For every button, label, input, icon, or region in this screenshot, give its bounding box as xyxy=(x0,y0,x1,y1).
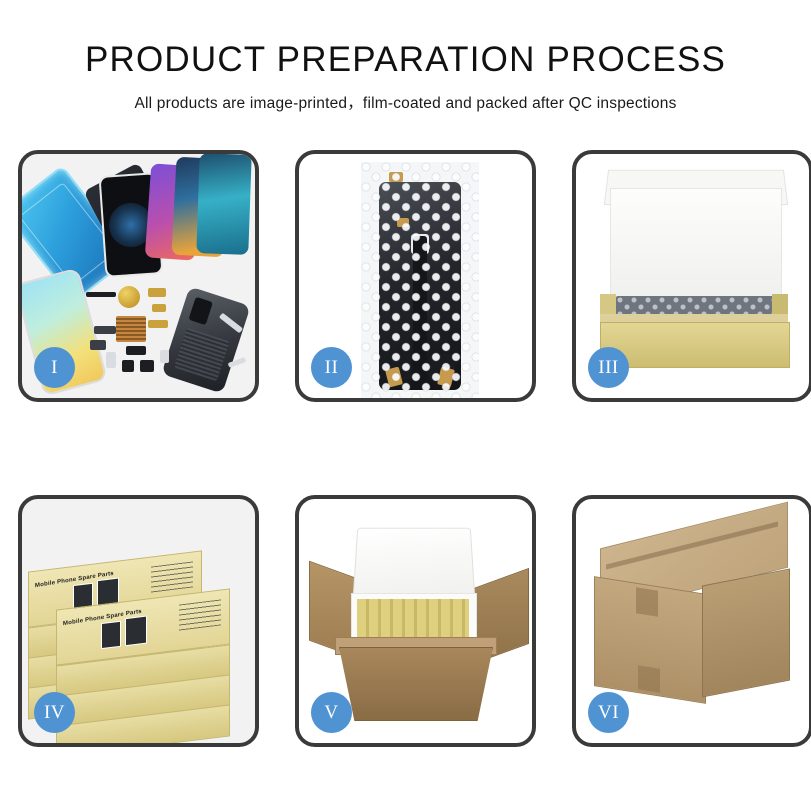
carton-tape-icon xyxy=(636,587,658,616)
small-part-icon xyxy=(160,350,169,363)
process-step-3: III xyxy=(572,150,811,402)
box-thumbnail-icon xyxy=(125,616,147,647)
teal-phone-icon xyxy=(196,154,251,255)
step-badge-4: IV xyxy=(34,692,75,733)
chip-grid-icon xyxy=(116,316,146,342)
small-part-icon xyxy=(148,320,168,328)
box-front-panel xyxy=(600,322,790,368)
step-badge-1: I xyxy=(34,347,75,388)
small-part-icon xyxy=(94,326,116,334)
page-title: PRODUCT PREPARATION PROCESS xyxy=(0,42,811,79)
box-spec-lines xyxy=(151,561,193,592)
small-part-icon xyxy=(140,360,154,372)
small-part-icon xyxy=(106,352,116,368)
disassembled-phone-icon xyxy=(161,286,250,393)
small-part-icon xyxy=(148,288,166,297)
step-badge-6: VI xyxy=(588,692,629,733)
small-part-icon xyxy=(90,340,106,350)
process-step-6: VI xyxy=(572,495,811,747)
small-part-icon xyxy=(126,346,146,355)
bubble-wrap-texture xyxy=(361,162,479,398)
box-thumbnail-icon xyxy=(101,621,121,649)
step-badge-3: III xyxy=(588,347,629,388)
carton-front-panel xyxy=(339,647,493,721)
product-preparation-infographic: PRODUCT PREPARATION PROCESS All products… xyxy=(0,0,811,811)
foam-case-lid-icon xyxy=(353,528,476,599)
step-badge-5: V xyxy=(311,692,352,733)
small-part-icon xyxy=(152,304,166,312)
step-badge-2: II xyxy=(311,347,352,388)
box-spec-lines xyxy=(179,599,221,630)
process-step-5: V xyxy=(295,495,536,747)
foam-sheet-icon xyxy=(610,188,782,298)
bubble-wrap-sleeve xyxy=(361,162,479,398)
small-part-icon xyxy=(86,292,116,297)
process-step-1: I xyxy=(18,150,259,402)
speaker-module-icon xyxy=(118,286,140,308)
header: PRODUCT PREPARATION PROCESS All products… xyxy=(0,0,811,113)
carton-tape-icon xyxy=(638,665,660,692)
process-step-4: Mobile Phone Spare Parts Mobile Phone Sp… xyxy=(18,495,259,747)
process-step-2: II xyxy=(295,150,536,402)
process-step-grid: I II xyxy=(18,150,794,750)
small-part-icon xyxy=(122,360,134,372)
carton-side-panel xyxy=(702,568,790,697)
page-subtitle: All products are image-printed，film-coat… xyxy=(0,91,811,113)
